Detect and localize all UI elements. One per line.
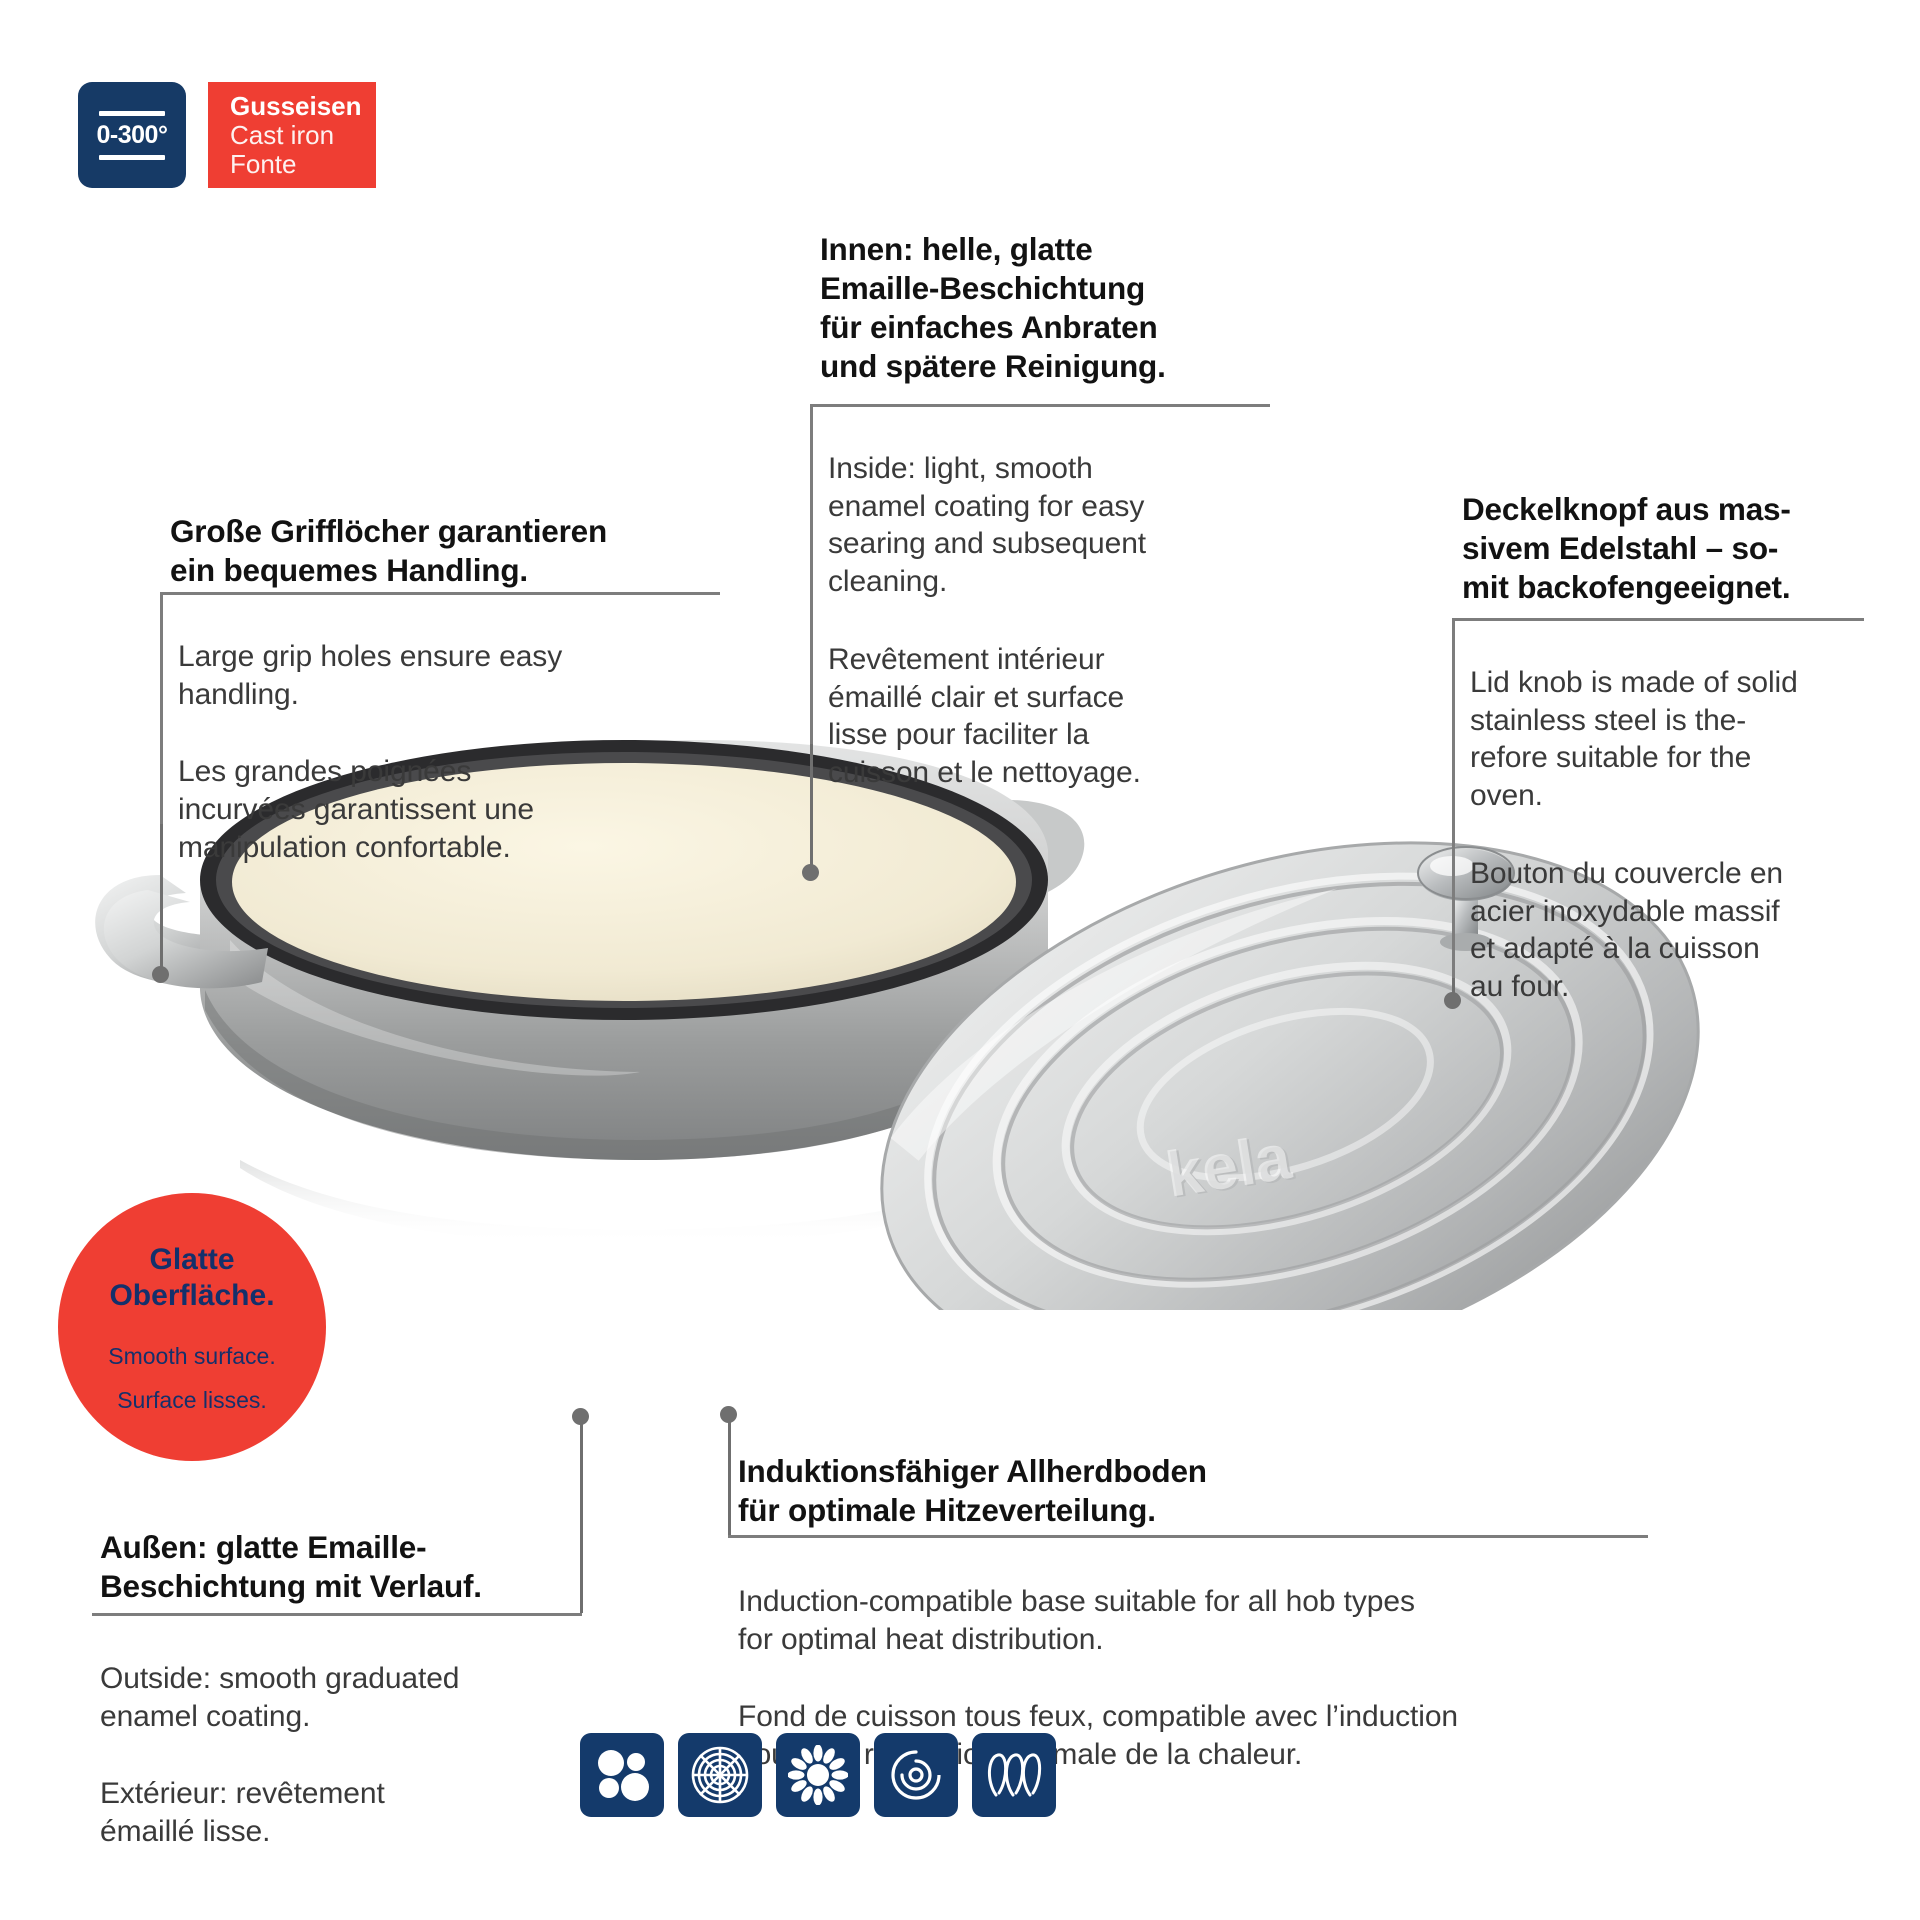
smooth-surface-en: Smooth surface. xyxy=(108,1339,275,1374)
material-badge: Gusseisen Cast iron Fonte xyxy=(208,82,376,188)
badge-group: 0-300° Gusseisen Cast iron Fonte xyxy=(78,82,376,188)
callout-inside-enamel: Innen: helle, glatte Emaille-Beschichtun… xyxy=(820,230,1250,386)
leader-dot-inside-enamel xyxy=(802,864,819,881)
callout-grip-holes-bracket xyxy=(160,592,163,824)
badge-rule-bottom xyxy=(99,155,165,160)
callout-inside-enamel-rule xyxy=(810,404,1270,407)
callout-induction-base-rule xyxy=(728,1535,1648,1538)
callout-lid-knob-body: Lid knob is made of solid stainless stee… xyxy=(1470,626,1870,1044)
callout-outside-enamel-body: Outside: smooth graduated enamel coating… xyxy=(100,1622,570,1889)
ceramic-spiral-hob-icon xyxy=(874,1733,958,1817)
electric-plate-hob-icon xyxy=(580,1733,664,1817)
callout-lid-knob-bracket xyxy=(1452,618,1455,978)
callout-lid-knob: Deckelknopf aus mas- sivem Edelstahl – s… xyxy=(1462,490,1862,607)
material-label-en: Cast iron xyxy=(230,121,376,150)
halogen-hob-icon xyxy=(678,1733,762,1817)
gas-hob-icon xyxy=(776,1733,860,1817)
material-label-fr: Fonte xyxy=(230,150,376,179)
temperature-range-badge: 0-300° xyxy=(78,82,186,188)
leader-line-grip-holes xyxy=(160,824,163,974)
badge-rule-top xyxy=(99,111,165,116)
callout-induction-base-title: Induktionsfähiger Allherdboden für optim… xyxy=(738,1452,1318,1530)
callout-grip-holes-fr: Les grandes poignées incurvées garantiss… xyxy=(178,753,718,866)
callout-lid-knob-fr: Bouton du couvercle en acier inoxydable … xyxy=(1470,855,1870,1006)
callout-inside-enamel-fr: Revêtement intérieur émaillé clair et su… xyxy=(828,641,1268,792)
callout-grip-holes-rule xyxy=(160,592,720,595)
leader-dot-induction-base xyxy=(720,1406,737,1423)
callout-grip-holes: Große Grifflöcher garantieren ein bequem… xyxy=(170,512,715,590)
leader-line-outside-enamel xyxy=(580,1420,583,1613)
callout-outside-enamel-en: Outside: smooth graduated enamel coating… xyxy=(100,1660,570,1736)
callout-inside-enamel-body: Inside: light, smooth enamel coating for… xyxy=(828,412,1268,830)
callout-lid-knob-en: Lid knob is made of solid stainless stee… xyxy=(1470,664,1870,815)
smooth-surface-fr: Surface lisses. xyxy=(108,1383,275,1418)
callout-grip-holes-title: Große Grifflöcher garantieren ein bequem… xyxy=(170,512,715,590)
smooth-surface-title: Glatte Oberfläche. xyxy=(109,1242,274,1313)
leader-dot-lid-knob xyxy=(1444,992,1461,1009)
callout-lid-knob-rule xyxy=(1452,618,1864,621)
callout-grip-holes-en: Large grip holes ensure easy handling. xyxy=(178,638,718,714)
temperature-range-label: 0-300° xyxy=(97,123,168,148)
callout-inside-enamel-en: Inside: light, smooth enamel coating for… xyxy=(828,450,1268,601)
callout-grip-holes-body: Large grip holes ensure easy handling. L… xyxy=(178,600,718,904)
material-label-de: Gusseisen xyxy=(230,92,376,121)
callout-outside-enamel: Außen: glatte Emaille- Beschichtung mit … xyxy=(100,1528,570,1606)
leader-line-induction-base xyxy=(728,1418,731,1535)
smooth-surface-badge: Glatte Oberfläche. Smooth surface. Surfa… xyxy=(58,1193,326,1461)
brand-mark: kela xyxy=(1164,1121,1299,1212)
callout-lid-knob-title: Deckelknopf aus mas- sivem Edelstahl – s… xyxy=(1462,490,1862,607)
hob-compatibility-icons xyxy=(580,1733,1056,1817)
leader-dot-grip-holes xyxy=(152,966,169,983)
leader-dot-outside-enamel xyxy=(572,1408,589,1425)
induction-hob-icon xyxy=(972,1733,1056,1817)
callout-induction-base: Induktionsfähiger Allherdboden für optim… xyxy=(738,1452,1318,1530)
callout-induction-base-en: Induction-compatible base suitable for a… xyxy=(738,1583,1688,1659)
infographic-canvas: 0-300° Gusseisen Cast iron Fonte xyxy=(0,0,1920,1920)
leader-line-inside-enamel xyxy=(810,744,813,872)
callout-outside-enamel-fr: Extérieur: revêtement émaillé lisse. xyxy=(100,1775,570,1851)
callout-inside-enamel-bracket xyxy=(810,404,813,744)
callout-outside-enamel-title: Außen: glatte Emaille- Beschichtung mit … xyxy=(100,1528,570,1606)
callout-outside-enamel-rule xyxy=(92,1613,582,1616)
svg-text:kela: kela xyxy=(1161,1120,1296,1211)
callout-inside-enamel-title: Innen: helle, glatte Emaille-Beschichtun… xyxy=(820,230,1250,386)
